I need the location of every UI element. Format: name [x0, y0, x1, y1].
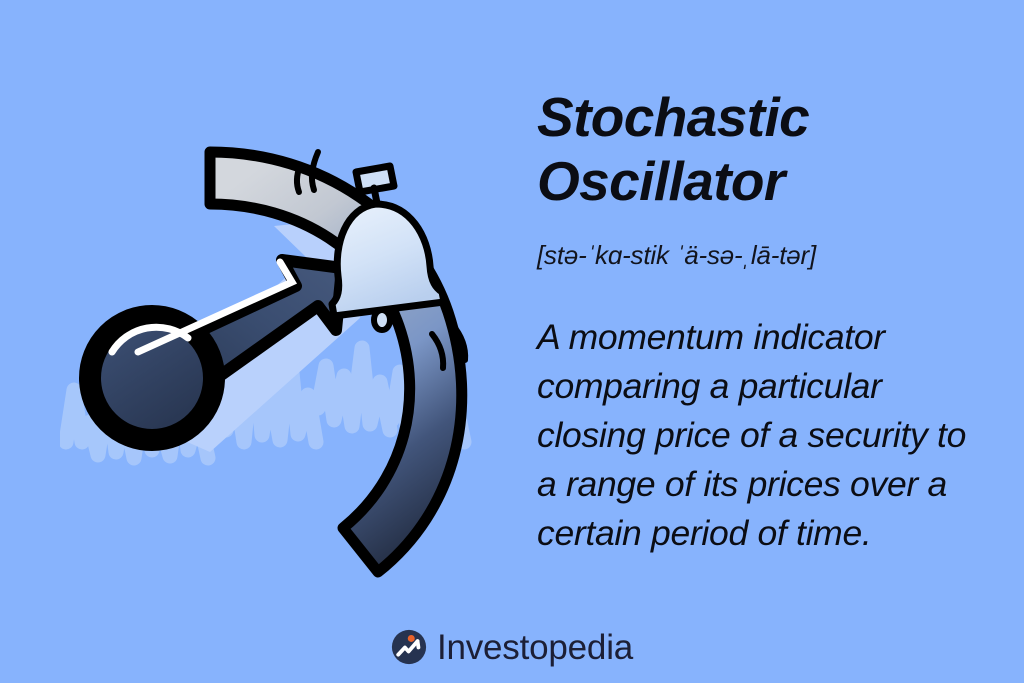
stochastic-oscillator-illustration — [60, 90, 500, 590]
investopedia-logo: Investopedia — [0, 629, 1024, 665]
investopedia-wordmark: Investopedia — [437, 630, 633, 665]
definition-text: A momentum indicator comparing a particu… — [537, 313, 987, 558]
infographic-card: Stochastic Oscillator [stə-ˈkɑ-stik ˈä-s… — [0, 0, 1024, 683]
pronunciation-text: [stə-ˈkɑ-stik ˈä-sə-ˌlā-tər] — [537, 240, 987, 271]
term-text-column: Stochastic Oscillator [stə-ˈkɑ-stik ˈä-s… — [537, 86, 987, 558]
investopedia-mark-icon — [391, 629, 427, 665]
page-title: Stochastic Oscillator — [537, 86, 987, 214]
